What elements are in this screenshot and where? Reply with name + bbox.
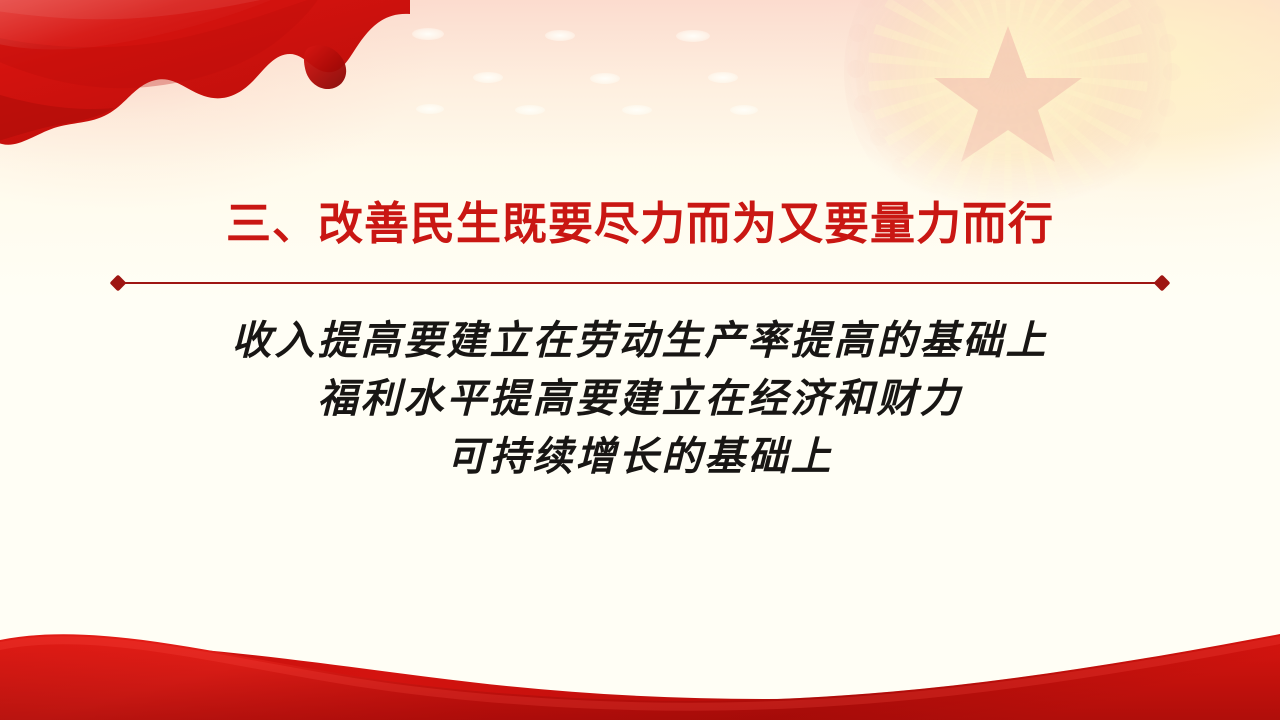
divider-rule <box>119 282 1161 284</box>
red-wave-footer <box>0 600 1280 720</box>
presentation-slide: 三、改善民生既要尽力而为又要量力而行 收入提高要建立在劳动生产率提高的基础上 福… <box>0 0 1280 720</box>
body-text-block: 收入提高要建立在劳动生产率提高的基础上 福利水平提高要建立在经济和财力 可持续增… <box>0 312 1280 486</box>
body-line-3: 可持续增长的基础上 <box>0 428 1280 486</box>
body-line-2: 福利水平提高要建立在经济和财力 <box>0 370 1280 428</box>
body-line-1: 收入提高要建立在劳动生产率提高的基础上 <box>0 312 1280 370</box>
divider-diamond-right <box>1154 275 1171 292</box>
title-divider <box>112 275 1168 291</box>
page-title: 三、改善民生既要尽力而为又要量力而行 <box>0 198 1280 250</box>
